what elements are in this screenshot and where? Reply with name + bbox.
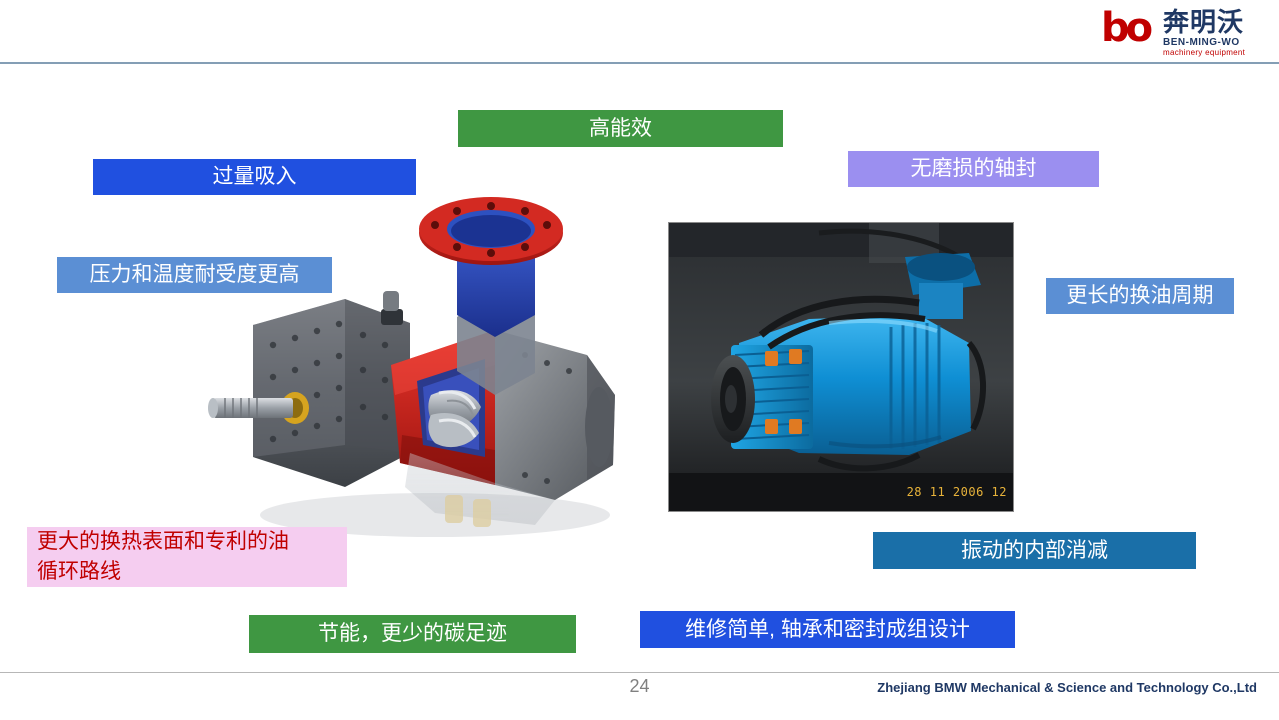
- compressor-photo: 28 11 2006 12: [668, 222, 1014, 512]
- header-divider: [0, 62, 1279, 64]
- callout-vibration-reduction: 振动的内部消减: [873, 532, 1196, 569]
- logo-tagline: machinery equipment: [1163, 48, 1245, 57]
- callout-heat-exchange-surface: 更大的换热表面和专利的油 循环路线: [27, 527, 347, 587]
- company-logo: bo 奔明沃 BEN-MING-WO machinery equipment: [1101, 6, 1261, 58]
- logo-english-name: BEN-MING-WO: [1163, 37, 1240, 48]
- footer-divider: [0, 672, 1279, 673]
- callout-energy-saving: 节能，更少的碳足迹: [249, 615, 576, 653]
- callout-pressure-temperature: 压力和温度耐受度更高: [57, 257, 332, 293]
- callout-over-suction: 过量吸入: [93, 159, 416, 195]
- footer-company-name: Zhejiang BMW Mechanical & Science and Te…: [877, 680, 1257, 695]
- logo-mark: bo: [1101, 8, 1149, 48]
- logo-chinese-name: 奔明沃: [1163, 8, 1244, 36]
- callout-oil-change-cycle: 更长的换油周期: [1046, 278, 1234, 314]
- photo-timestamp: 28 11 2006 12: [907, 485, 1007, 499]
- callout-easy-maintenance: 维修简单, 轴承和密封成组设计: [640, 611, 1015, 648]
- slide: bo 奔明沃 BEN-MING-WO machinery equipment: [0, 0, 1279, 720]
- callout-wearless-seal: 无磨损的轴封: [848, 151, 1099, 187]
- compressor-cad-image: [195, 195, 655, 555]
- callout-high-efficiency: 高能效: [458, 110, 783, 147]
